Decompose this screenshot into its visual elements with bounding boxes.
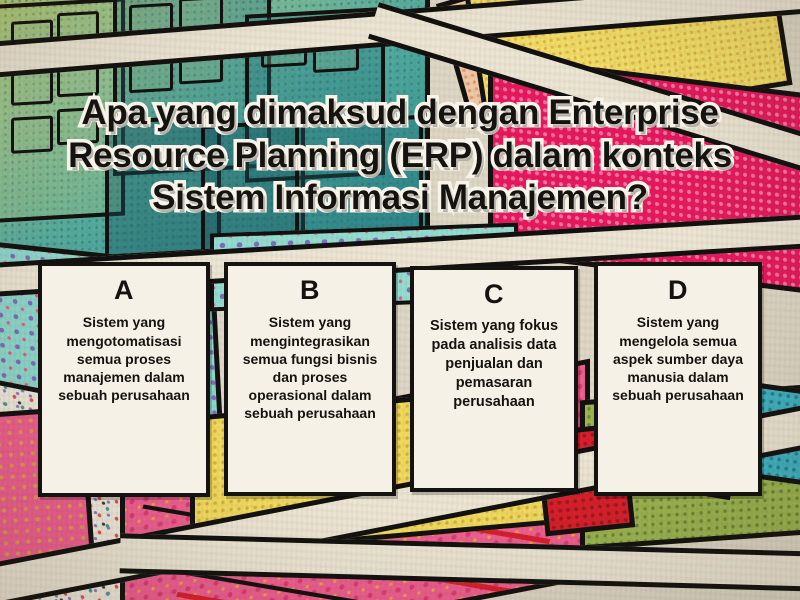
answer-letter-c: C bbox=[422, 280, 566, 308]
answer-options-row: A Sistem yang mengotomatisasi semua pros… bbox=[38, 260, 764, 498]
answer-letter-d: D bbox=[606, 276, 750, 304]
answer-card-a[interactable]: A Sistem yang mengotomatisasi semua pros… bbox=[38, 262, 210, 497]
quiz-slide: Apa yang dimaksud dengan Enterprise Reso… bbox=[0, 0, 800, 600]
question-text: Apa yang dimaksud dengan Enterprise Reso… bbox=[0, 92, 800, 220]
answer-text-b: Sistem yang mengintegrasikan semua fungs… bbox=[236, 313, 384, 422]
answer-text-c: Sistem yang fokus pada analisis data pen… bbox=[422, 317, 566, 411]
answer-card-b[interactable]: B Sistem yang mengintegrasikan semua fun… bbox=[224, 262, 396, 496]
answer-letter-a: A bbox=[50, 276, 198, 304]
answer-letter-b: B bbox=[236, 276, 384, 304]
answer-text-d: Sistem yang mengelola semua aspek sumber… bbox=[606, 313, 750, 404]
answer-card-c[interactable]: C Sistem yang fokus pada analisis data p… bbox=[410, 266, 578, 492]
answer-card-d[interactable]: D Sistem yang mengelola semua aspek sumb… bbox=[594, 262, 762, 496]
answer-text-a: Sistem yang mengotomatisasi semua proses… bbox=[50, 313, 198, 404]
